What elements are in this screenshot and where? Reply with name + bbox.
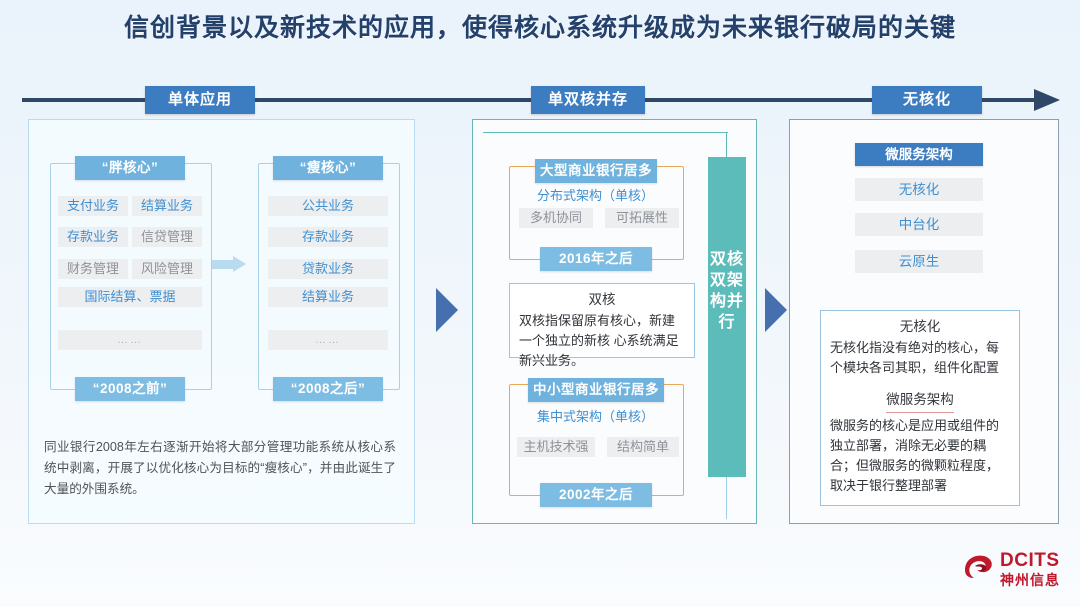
teal-connector-stem-top [726, 133, 727, 159]
arrow-right-icon [212, 256, 246, 272]
small-bank-subtitle: 集中式架构（单核） [509, 406, 682, 425]
teal-connector-top [483, 132, 728, 133]
fat-core-row-cell: 存款业务 [58, 227, 128, 247]
dual-core-vertical-bar: 双核双架构并行 [708, 157, 746, 477]
right-stack-item: 无核化 [855, 178, 983, 201]
dual-core-card-body: 双核指保留原有核心，新建一个独立的新核 心系统满足新兴业务。 [519, 311, 685, 371]
dual-core-vertical-label: 双核双架构并行 [708, 249, 746, 333]
large-bank-footer-cap: 2016年之后 [540, 247, 652, 271]
right-stack-item: 中台化 [855, 213, 983, 236]
thin-core-dots: …… [268, 330, 388, 350]
thin-core-item: 贷款业务 [268, 259, 388, 279]
coreless-card-heading-2-wrap: 微服务架构 [830, 388, 1010, 413]
page-title: 信创背景以及新技术的应用，使得核心系统升级成为未来银行破局的关键 [0, 8, 1080, 44]
large-bank-tag: 多机协同 [519, 208, 593, 228]
coreless-card-body-2: 微服务的核心是应用或组件的独立部署，消除无必要的耦合；但微服务的微颗粒程度，取决… [830, 416, 1010, 496]
thin-core-cap: “瘦核心” [273, 156, 383, 180]
small-bank-footer-cap: 2002年之后 [540, 483, 652, 507]
brand-logo: DCITS 神州信息 [962, 548, 1068, 592]
right-stack-head[interactable]: 微服务架构 [855, 143, 983, 166]
fat-core-row-cell: 财务管理 [58, 259, 128, 279]
logo-en-text: DCITS [1000, 550, 1060, 572]
coreless-card-body-1: 无核化指没有绝对的核心，每个模块各司其职，组件化配置 [830, 338, 1010, 378]
thin-core-footer-cap: “2008之后” [273, 377, 383, 401]
small-bank-tag: 结构简单 [607, 437, 679, 457]
fat-core-wide-row: 国际结算、票据 [58, 287, 202, 307]
fat-core-row-cell: 结算业务 [132, 196, 202, 216]
dcits-swirl-icon [962, 552, 996, 582]
coreless-card-heading-2: 微服务架构 [886, 388, 954, 413]
logo-cn-text: 神州信息 [1000, 570, 1060, 590]
arrow-right-icon [1034, 89, 1060, 111]
coreless-card-heading-1: 无核化 [830, 316, 1010, 338]
timeline-stage-2[interactable]: 单双核并存 [531, 86, 645, 114]
fat-core-row-cell: 信贷管理 [132, 227, 202, 247]
slide-canvas: 信创背景以及新技术的应用，使得核心系统升级成为未来银行破局的关键 单体应用 单双… [0, 0, 1080, 607]
fat-core-row-cell: 风险管理 [132, 259, 202, 279]
thin-core-item: 公共业务 [268, 196, 388, 216]
timeline-stage-1[interactable]: 单体应用 [145, 86, 255, 114]
right-stack-item: 云原生 [855, 250, 983, 273]
timeline-stage-3[interactable]: 无核化 [872, 86, 982, 114]
fat-core-cap: “胖核心” [75, 156, 185, 180]
small-bank-tag: 主机技术强 [517, 437, 595, 457]
teal-connector-stem-bottom [726, 477, 727, 519]
fat-core-dots: …… [58, 330, 202, 350]
thin-core-item: 存款业务 [268, 227, 388, 247]
small-bank-cap: 中小型商业银行居多 [528, 378, 664, 402]
thin-core-item: 结算业务 [268, 287, 388, 307]
large-bank-subtitle: 分布式架构（单核） [509, 185, 682, 204]
left-panel-paragraph: 同业银行2008年左右逐渐开始将大部分管理功能系统从核心系统中剥离，开展了以优化… [44, 437, 396, 500]
dual-core-card-heading: 双核 [519, 289, 685, 311]
coreless-card: 无核化 无核化指没有绝对的核心，每个模块各司其职，组件化配置 微服务架构 微服务… [820, 310, 1020, 506]
timeline: 单体应用 单双核并存 无核化 [22, 86, 1060, 114]
arrow-right-icon [436, 288, 458, 332]
arrow-right-icon [765, 288, 787, 332]
fat-core-footer-cap: “2008之前” [75, 377, 185, 401]
large-bank-cap: 大型商业银行居多 [535, 159, 657, 183]
dual-core-card: 双核 双核指保留原有核心，新建一个独立的新核 心系统满足新兴业务。 [509, 283, 695, 358]
fat-core-row-cell: 支付业务 [58, 196, 128, 216]
large-bank-tag: 可拓展性 [605, 208, 679, 228]
